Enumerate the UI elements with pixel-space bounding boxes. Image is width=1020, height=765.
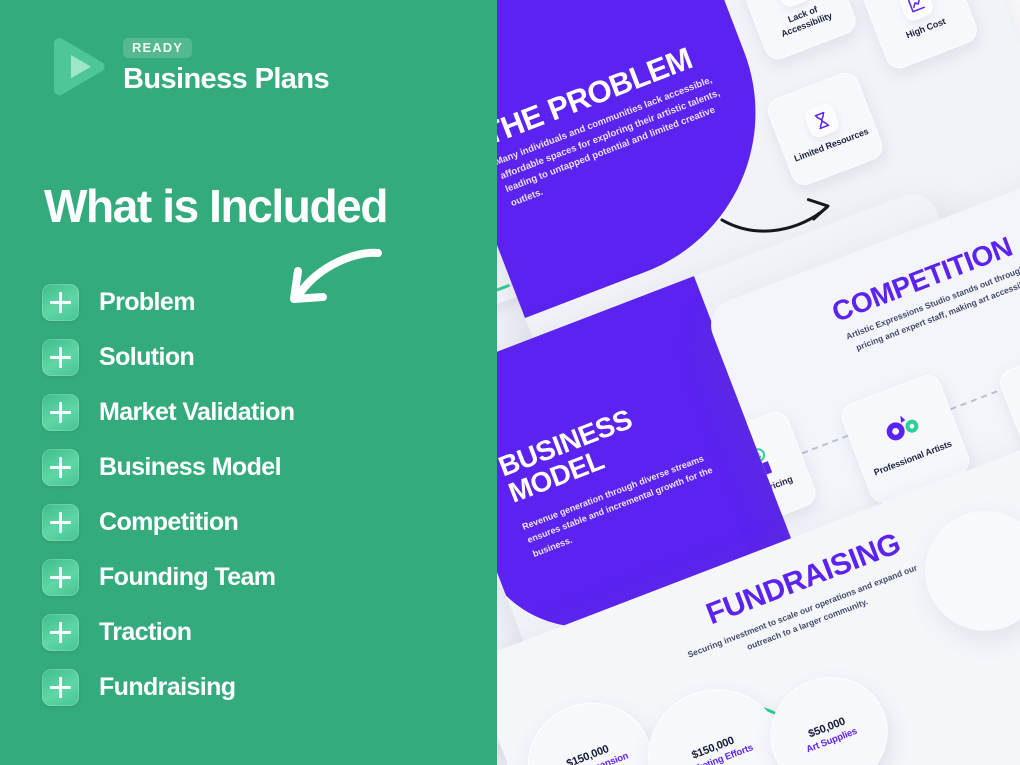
list-item[interactable]: Fundraising [42,667,294,708]
slide-stage: Drop-in Fees Education Workshops 1,200 M… [497,0,1020,765]
round-card-decor [908,493,1020,648]
list-item-label: Traction [99,620,191,645]
problem-card: High Cost [858,0,981,72]
list-item[interactable]: Solution [42,337,294,378]
plus-icon [42,449,79,486]
plus-icon [42,394,79,431]
brand-title: Business Plans [123,64,329,94]
list-item[interactable]: Business Model [42,447,294,488]
chart-up-icon [897,0,936,24]
list-item-label: Market Validation [99,400,294,425]
plus-icon [42,339,79,376]
hourglass-icon [803,101,842,140]
plus-icon [42,559,79,596]
problem-card: Lack of Accessibility [737,0,860,63]
gears-icon [876,406,928,455]
plus-icon [42,669,79,706]
ready-badge: READY [123,38,192,58]
list-item-label: Problem [99,290,195,315]
plus-icon [42,504,79,541]
list-item[interactable]: Founding Team [42,557,294,598]
list-item-label: Solution [99,345,194,370]
list-item-label: Business Model [99,455,281,480]
list-item[interactable]: Problem [42,282,294,323]
list-item[interactable]: Market Validation [42,392,294,433]
brand-lockup: READY Business Plans [47,35,329,97]
problem-card: Limited Resources [764,69,887,189]
play-triangle-icon [47,35,109,97]
traction-bar-fill [497,284,510,340]
list-item[interactable]: Competition [42,502,294,543]
included-feature-list: Problem Solution Market Validation Busin… [42,282,294,708]
list-item[interactable]: Traction [42,612,294,653]
brand-text-block: READY Business Plans [123,38,329,94]
list-item-label: Competition [99,510,238,535]
problem-card-label: Lack of Accessibility [763,0,846,45]
curved-arrow-down-left-icon [278,243,388,328]
plus-icon [42,614,79,651]
competition-card: Creative Interaction [996,339,1020,468]
list-item-label: Founding Team [99,565,275,590]
list-item-label: Fundraising [99,675,235,700]
left-green-panel: READY Business Plans What is Included Pr… [0,0,497,765]
slide-deck-preview: Drop-in Fees Education Workshops 1,200 M… [497,0,1020,765]
plus-icon [42,284,79,321]
divider [950,390,997,410]
page-title: What is Included [44,183,387,229]
